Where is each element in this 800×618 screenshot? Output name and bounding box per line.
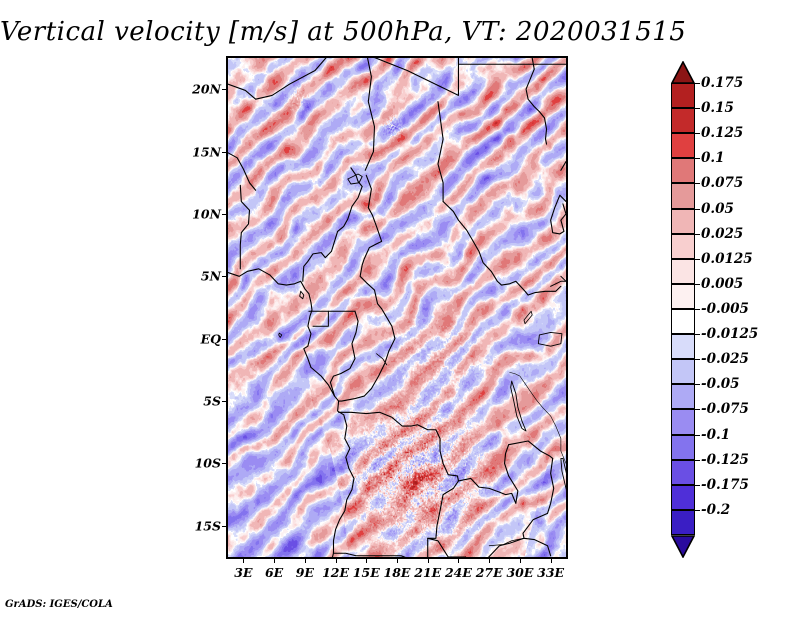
colorbar-band — [671, 83, 695, 108]
colorbar-band — [671, 183, 695, 208]
longitude-tick-mark — [336, 557, 337, 563]
colorbar-tick-mark — [695, 359, 700, 360]
colorbar-tick-label: 0.05 — [701, 201, 734, 217]
latitude-tick-label: 10N — [192, 206, 221, 221]
map-plot-area: 20N15N10N5NEQ5S10S15S 3E6E9E12E15E18E21E… — [228, 58, 566, 557]
latitude-tick-label: 5S — [203, 394, 221, 409]
colorbar-band — [671, 158, 695, 183]
colorbar-tick-label: 0.0125 — [701, 251, 753, 267]
colorbar-tick-mark — [695, 309, 700, 310]
colorbar-tick-label: 0.175 — [701, 75, 743, 91]
latitude-tick-mark — [222, 152, 228, 153]
attribution-footer: GrADS: IGES/COLA — [5, 599, 113, 610]
longitude-tick-mark — [397, 557, 398, 563]
longitude-tick-mark — [305, 557, 306, 563]
colorbar-tick-mark — [695, 384, 700, 385]
longitude-tick-label: 18E — [384, 565, 411, 580]
colorbar-tick-label: -0.05 — [701, 376, 739, 392]
longitude-tick-label: 24E — [445, 565, 472, 580]
colorbar-tick-label: 0.075 — [701, 175, 743, 191]
colorbar-band — [671, 435, 695, 460]
longitude-tick-mark — [458, 557, 459, 563]
colorbar-band — [671, 384, 695, 409]
colorbar-band — [671, 234, 695, 259]
colorbar-band — [671, 409, 695, 434]
colorbar-band — [671, 359, 695, 384]
chart-canvas-root: Vertical velocity [m/s] at 500hPa, VT: 2… — [0, 0, 800, 618]
colorbar-band — [671, 485, 695, 510]
colorbar-tick-mark — [695, 510, 700, 511]
colorbar-tick-mark — [695, 108, 700, 109]
chart-title: Vertical velocity [m/s] at 500hPa, VT: 2… — [0, 17, 660, 47]
colorbar-tick-mark — [695, 234, 700, 235]
colorbar-band — [671, 334, 695, 359]
colorbar-band — [671, 209, 695, 234]
longitude-tick-label: 30E — [506, 565, 533, 580]
colorbar-tick-label: -0.0125 — [701, 326, 758, 342]
colorbar-tick-mark — [695, 209, 700, 210]
latitude-tick-mark — [222, 526, 228, 527]
longitude-tick-mark — [366, 557, 367, 563]
colorbar-tick-label: -0.175 — [701, 477, 749, 493]
longitude-tick-mark — [243, 557, 244, 563]
latitude-tick-label: 15N — [192, 144, 221, 159]
latitude-tick-label: 20N — [192, 82, 221, 97]
vertical-velocity-field — [228, 58, 566, 557]
colorbar-tick-label: 0.025 — [701, 226, 743, 242]
colorbar-band — [671, 460, 695, 485]
colorbar-band — [671, 284, 695, 309]
colorbar-tick-mark — [695, 158, 700, 159]
longitude-tick-mark — [428, 557, 429, 563]
longitude-tick-label: 15E — [353, 565, 380, 580]
latitude-tick-mark — [222, 214, 228, 215]
colorbar-tick-mark — [695, 83, 700, 84]
longitude-tick-mark — [520, 557, 521, 563]
colorbar-tick-mark — [695, 435, 700, 436]
colorbar-tick-label: -0.2 — [701, 502, 730, 518]
colorbar-tick-mark — [695, 460, 700, 461]
latitude-tick-label: EQ — [201, 331, 221, 346]
latitude-tick-mark — [222, 339, 228, 340]
colorbar-tick-label: 0.1 — [701, 150, 725, 166]
colorbar-under-arrow — [671, 535, 695, 557]
longitude-tick-mark — [489, 557, 490, 563]
latitude-tick-mark — [222, 89, 228, 90]
colorbar-band — [671, 309, 695, 334]
longitude-tick-label: 27E — [476, 565, 503, 580]
colorbar-tick-label: -0.125 — [701, 452, 749, 468]
latitude-tick-mark — [222, 463, 228, 464]
colorbar-tick-label: -0.025 — [701, 351, 749, 367]
latitude-tick-mark — [222, 401, 228, 402]
latitude-tick-label: 5N — [201, 269, 221, 284]
colorbar-tick-mark — [695, 409, 700, 410]
colorbar-tick-label: 0.15 — [701, 100, 734, 116]
longitude-tick-mark — [551, 557, 552, 563]
colorbar-tick-label: -0.075 — [701, 401, 749, 417]
colorbar-band — [671, 510, 695, 535]
longitude-tick-label: 6E — [265, 565, 283, 580]
colorbar-tick-mark — [695, 334, 700, 335]
colorbar-band — [671, 259, 695, 284]
latitude-tick-label: 10S — [195, 456, 221, 471]
colorbar-tick-mark — [695, 284, 700, 285]
latitude-tick-mark — [222, 276, 228, 277]
colorbar-band — [671, 108, 695, 133]
latitude-tick-label: 15S — [195, 518, 221, 533]
colorbar-tick-label: -0.1 — [701, 427, 730, 443]
colorbar-tick-mark — [695, 485, 700, 486]
colorbar: 0.1750.150.1250.10.0750.050.0250.01250.0… — [671, 61, 695, 557]
colorbar-tick-mark — [695, 259, 700, 260]
colorbar-band — [671, 133, 695, 158]
colorbar-tick-label: 0.005 — [701, 276, 743, 292]
colorbar-tick-mark — [695, 183, 700, 184]
colorbar-tick-mark — [695, 133, 700, 134]
colorbar-over-arrow — [671, 61, 695, 83]
longitude-tick-mark — [274, 557, 275, 563]
longitude-tick-label: 12E — [322, 565, 349, 580]
longitude-tick-label: 33E — [537, 565, 564, 580]
colorbar-tick-label: 0.125 — [701, 125, 743, 141]
longitude-tick-label: 9E — [296, 565, 314, 580]
colorbar-tick-label: -0.005 — [701, 301, 749, 317]
longitude-tick-label: 3E — [234, 565, 252, 580]
longitude-tick-label: 21E — [414, 565, 441, 580]
